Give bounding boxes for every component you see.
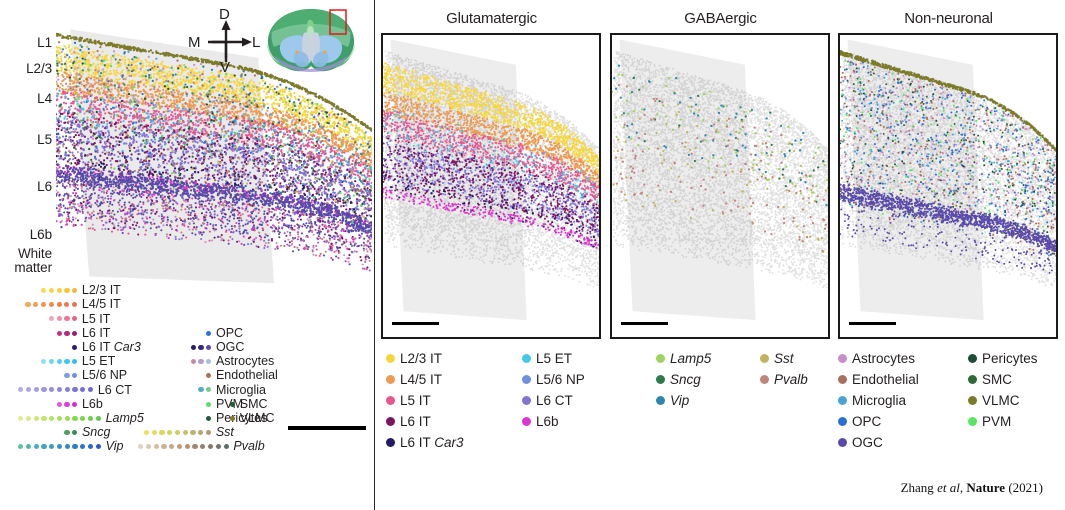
legend-item-lamp5: Lamp5 xyxy=(18,411,144,426)
legend-item-label: L2/3 IT xyxy=(400,352,442,366)
legend-swatch-dots xyxy=(191,359,214,364)
legend-item-label: Lamp5 xyxy=(670,352,711,366)
citation-author: Zhang xyxy=(901,480,937,495)
citation-year: (2021) xyxy=(1005,480,1043,495)
legend-color-dot xyxy=(522,396,531,405)
legend-item-label: VLMC xyxy=(982,394,1020,408)
legend-item-label: Lamp5 xyxy=(106,412,144,425)
legend-swatch-dots xyxy=(57,331,80,336)
panel-scale-bar xyxy=(621,322,668,325)
legend-item-pvalb: Pvalb xyxy=(138,439,265,454)
legend-item-smc: SMC xyxy=(230,397,268,412)
legend-item-sncg: Sncg xyxy=(64,425,110,440)
legend-item-label: Pvalb xyxy=(233,440,264,453)
legend-item-l5-6-np: L5/6 NP xyxy=(64,368,127,383)
left-panel-scale-bar xyxy=(288,426,366,430)
legend-item-ogc: OGC xyxy=(191,340,245,355)
legend-item-smc: SMC xyxy=(968,369,1038,390)
legend-item-label: Sst xyxy=(774,352,794,366)
legend-swatch-dots xyxy=(198,387,214,392)
legend-color-dot xyxy=(386,396,395,405)
layer-label-whitematter: White matter xyxy=(0,247,52,275)
legend-item-l5-et: L5 ET xyxy=(522,348,585,369)
legend-item-vip: Vip xyxy=(18,439,123,454)
legend-item-l6b: L6b xyxy=(522,411,585,432)
legend-swatch-dots xyxy=(49,316,80,321)
legend-item-l6-it-car3: L6 IT Car3 xyxy=(72,340,141,355)
legend-column-2: L5 ETL5/6 NPL6 CTL6b xyxy=(522,348,585,432)
left-composite-panel: L1L2/3L4L5L6L6bWhite matter D V M L xyxy=(0,0,372,510)
legend-item-label: L6 IT Car3 xyxy=(82,341,141,354)
legend-column-6: PericytesSMCVLMCPVM xyxy=(968,348,1038,432)
legend-item-endothelial: Endothelial xyxy=(206,368,278,383)
legend-column-3: Lamp5SncgVip xyxy=(656,348,711,411)
legend-color-dot xyxy=(656,396,665,405)
legend-swatch-dots xyxy=(206,402,214,407)
legend-swatch-dots xyxy=(25,302,79,307)
legend-item-label: Pericytes xyxy=(982,352,1038,366)
legend-column-5: AstrocytesEndothelialMicrogliaOPCOGC xyxy=(838,348,919,453)
legend-item-sncg: Sncg xyxy=(656,369,711,390)
legend-item-l2-3-it: L2/3 IT xyxy=(41,283,121,298)
legend-item-label: Endothelial xyxy=(852,373,919,387)
scatter-panel-glutamatergic xyxy=(381,33,601,339)
legend-item-label: Microglia xyxy=(852,394,906,408)
legend-color-dot xyxy=(522,375,531,384)
legend-item-opc: OPC xyxy=(206,326,243,341)
legend-item-label: L4/5 IT xyxy=(400,373,442,387)
legend-swatch-dots xyxy=(64,373,80,378)
legend-color-dot xyxy=(838,354,847,363)
legend-color-dot xyxy=(968,396,977,405)
legend-column-4: SstPvalb xyxy=(760,348,808,390)
legend-item-label: SMC xyxy=(982,373,1012,387)
panel-scale-bar xyxy=(849,322,896,325)
legend-color-dot xyxy=(656,354,665,363)
panel-title-gabaergic: GABAergic xyxy=(610,10,831,27)
legend-swatch-dots xyxy=(230,402,238,407)
legend-item-label: Vip xyxy=(670,394,689,408)
legend-item-l6-ct: L6 CT xyxy=(18,382,132,397)
legend-item-label: L6b xyxy=(82,398,103,411)
legend-item-label: OPC xyxy=(216,327,243,340)
legend-item-microglia: Microglia xyxy=(838,390,919,411)
legend-color-dot xyxy=(386,354,395,363)
legend-item-pvalb: Pvalb xyxy=(760,369,808,390)
legend-item-label: Sst xyxy=(216,426,234,439)
legend-item-microglia: Microglia xyxy=(198,382,266,397)
layer-label-l23: L2/3 xyxy=(0,62,52,76)
legend-swatch-dots xyxy=(18,416,104,421)
legend-item-label: Sncg xyxy=(670,373,701,387)
section-divider xyxy=(374,0,375,510)
legend-item-label: OPC xyxy=(852,415,881,429)
orientation-compass: D V M L xyxy=(188,8,264,80)
layer-label-l6b: L6b xyxy=(0,228,52,242)
legend-item-l5-et: L5 ET xyxy=(41,354,115,369)
legend-item-astrocytes: Astrocytes xyxy=(191,354,275,369)
panel-cell-scatter xyxy=(383,35,599,332)
legend-swatch-dots xyxy=(72,345,80,350)
legend-item-label: L6b xyxy=(536,415,559,429)
legend-color-dot xyxy=(968,354,977,363)
panel-cell-scatter xyxy=(840,35,1056,332)
legend-color-dot xyxy=(656,375,665,384)
legend-item-ogc: OGC xyxy=(838,432,919,453)
legend-item-l5-6-np: L5/6 NP xyxy=(522,369,585,390)
legend-item-label: PVM xyxy=(982,415,1011,429)
legend-item-l6b: L6b xyxy=(57,397,103,412)
panel-scale-bar xyxy=(392,322,439,325)
legend-item-endothelial: Endothelial xyxy=(838,369,919,390)
legend-swatch-dots xyxy=(64,430,80,435)
compass-lateral-label: L xyxy=(252,35,260,50)
citation-journal: Nature xyxy=(966,480,1005,495)
legend-color-dot xyxy=(760,375,769,384)
legend-item-astrocytes: Astrocytes xyxy=(838,348,919,369)
legend-item-l6-it-car3: L6 IT Car3 xyxy=(386,432,464,453)
legend-item-vlmc: VLMC xyxy=(968,390,1038,411)
legend-item-label: Pvalb xyxy=(774,373,808,387)
legend-item-label: OGC xyxy=(852,436,883,450)
legend-swatch-dots xyxy=(57,402,80,407)
legend-item-label: Endothelial xyxy=(216,369,278,382)
panel-title-glutamatergic: Glutamatergic xyxy=(381,10,602,27)
citation-etal: et al xyxy=(937,480,960,495)
legend-item-label: L6 IT xyxy=(400,415,431,429)
legend-item-label: L6 IT Car3 xyxy=(400,436,464,450)
legend-color-dot xyxy=(838,438,847,447)
legend-item-label: L6 CT xyxy=(536,394,573,408)
legend-color-dot xyxy=(838,375,847,384)
compass-ventral-label: V xyxy=(220,60,230,75)
layer-label-l4: L4 xyxy=(0,92,52,106)
legend-swatch-dots xyxy=(41,288,80,293)
scatter-panel-non-neuronal xyxy=(838,33,1058,339)
layer-label-l5: L5 xyxy=(0,133,52,147)
legend-item-l4-5-it: L4/5 IT xyxy=(386,369,464,390)
legend-item-label: Microglia xyxy=(216,384,266,397)
legend-item-l6-it: L6 IT xyxy=(386,411,464,432)
legend-item-sst: Sst xyxy=(144,425,234,440)
legend-item-label: L5 IT xyxy=(82,313,111,326)
legend-item-sst: Sst xyxy=(760,348,808,369)
legend-swatch-dots xyxy=(206,416,214,421)
legend-item-label: L4/5 IT xyxy=(82,298,121,311)
legend-item-l6-ct: L6 CT xyxy=(522,390,585,411)
legend-item-l5-it: L5 IT xyxy=(49,311,111,326)
legend-column-1: L2/3 ITL4/5 ITL5 ITL6 ITL6 IT Car3 xyxy=(386,348,464,453)
legend-item-label: L5/6 NP xyxy=(536,373,585,387)
compass-dorsal-label: D xyxy=(219,7,230,22)
compass-medial-label: M xyxy=(188,35,201,50)
layer-label-l6: L6 xyxy=(0,180,52,194)
legend-item-lamp5: Lamp5 xyxy=(656,348,711,369)
main-cell-type-legend: L2/3 ITL4/5 ITL5 ITL6 ITL6 IT Car3L5 ETL… xyxy=(386,348,1058,458)
legend-item-label: Sncg xyxy=(82,426,111,439)
legend-swatch-dots xyxy=(18,387,96,392)
legend-item-label: L5/6 NP xyxy=(82,369,127,382)
legend-item-l2-3-it: L2/3 IT xyxy=(386,348,464,369)
legend-item-opc: OPC xyxy=(838,411,919,432)
legend-item-label: L5 ET xyxy=(82,355,115,368)
legend-item-label: Astrocytes xyxy=(852,352,915,366)
legend-item-pericytes: Pericytes xyxy=(968,348,1038,369)
legend-swatch-dots xyxy=(41,359,80,364)
legend-color-dot xyxy=(968,417,977,426)
legend-item-vlmc: VLMC xyxy=(230,411,275,426)
legend-item-label: Astrocytes xyxy=(216,355,274,368)
panel-cell-scatter xyxy=(612,35,828,332)
legend-item-l6-it: L6 IT xyxy=(57,326,111,341)
left-panel-legend: L2/3 ITL4/5 ITL5 ITL6 ITL6 IT Car3L5 ETL… xyxy=(18,283,368,473)
legend-item-label: OGC xyxy=(216,341,244,354)
legend-item-l5-it: L5 IT xyxy=(386,390,464,411)
legend-item-label: L6 CT xyxy=(98,384,132,397)
legend-item-label: L5 IT xyxy=(400,394,431,408)
legend-swatch-dots xyxy=(138,444,231,449)
layer-label-l1: L1 xyxy=(0,36,52,50)
legend-item-label: SMC xyxy=(240,398,268,411)
legend-item-vip: Vip xyxy=(656,390,711,411)
legend-color-dot xyxy=(838,396,847,405)
legend-item-l4-5-it: L4/5 IT xyxy=(25,297,120,312)
legend-color-dot xyxy=(522,354,531,363)
legend-color-dot xyxy=(386,417,395,426)
legend-item-label: VLMC xyxy=(240,412,275,425)
citation-text: Zhang et al, Nature (2021) xyxy=(901,480,1043,496)
panel-title-non-neuronal: Non-neuronal xyxy=(838,10,1059,27)
legend-item-pvm: PVM xyxy=(968,411,1038,432)
legend-item-label: Vip xyxy=(106,440,124,453)
legend-item-label: L2/3 IT xyxy=(82,284,121,297)
brain-atlas-inset xyxy=(266,6,356,74)
legend-swatch-dots xyxy=(144,430,214,435)
coronal-section-outline xyxy=(267,9,355,72)
legend-color-dot xyxy=(760,354,769,363)
legend-swatch-dots xyxy=(206,331,214,336)
legend-color-dot xyxy=(838,417,847,426)
legend-color-dot xyxy=(968,375,977,384)
scatter-panel-gabaergic xyxy=(610,33,830,339)
legend-item-label: L6 IT xyxy=(82,327,111,340)
legend-item-label: L5 ET xyxy=(536,352,572,366)
legend-color-dot xyxy=(386,375,395,384)
legend-color-dot xyxy=(386,438,395,447)
legend-swatch-dots xyxy=(191,345,214,350)
legend-swatch-dots xyxy=(230,416,238,421)
legend-swatch-dots xyxy=(18,444,104,449)
legend-color-dot xyxy=(522,417,531,426)
legend-swatch-dots xyxy=(206,373,214,378)
